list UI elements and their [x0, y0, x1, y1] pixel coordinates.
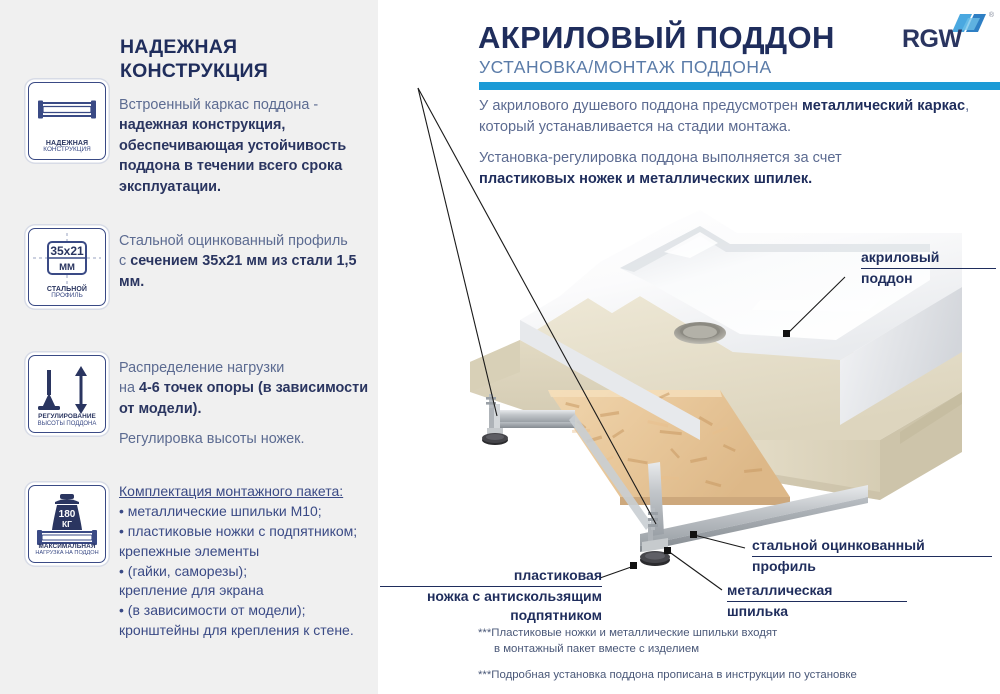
footnote-1: ***Пластиковые ножки и металлические шпи…	[478, 626, 938, 657]
callout-metal-stud-line2: шпилька	[727, 602, 907, 621]
callout-acrylic-tray-line2: поддон	[861, 269, 996, 288]
callout-metal-stud-line1: металлическая	[727, 581, 907, 602]
callout-steel-profile-line1: стальной оцинкованный	[752, 536, 992, 557]
callout-plastic-leg: пластиковая ножка с антискользящим подпя…	[380, 566, 602, 624]
callout-plastic-leg-line3: подпятником	[380, 606, 602, 625]
footnote-1-line2: в монтажный пакет вместе с изделием	[478, 642, 699, 658]
callout-metal-stud: металлическая шпилька	[727, 581, 907, 621]
callout-plastic-leg-line1: пластиковая	[380, 566, 602, 587]
callout-acrylic-tray-line1: акриловый	[861, 248, 996, 269]
callout-steel-profile-line2: профиль	[752, 557, 992, 576]
footnote-2-text: ***Подробная установка поддона прописана…	[478, 669, 857, 681]
infographic-page: НАДЕЖНАЯ КОНСТРУКЦИЯ НАДЕЖНАЯ КОНСТРУКЦИ…	[0, 0, 1000, 694]
footnote-2: ***Подробная установка поддона прописана…	[478, 668, 978, 684]
callout-acrylic-tray: акриловый поддон	[861, 248, 996, 288]
callout-steel-profile: стальной оцинкованный профиль	[752, 536, 992, 576]
callout-plastic-leg-line2: ножка с антискользящим	[380, 587, 602, 606]
footnote-1-line1: ***Пластиковые ножки и металлические шпи…	[478, 627, 777, 639]
